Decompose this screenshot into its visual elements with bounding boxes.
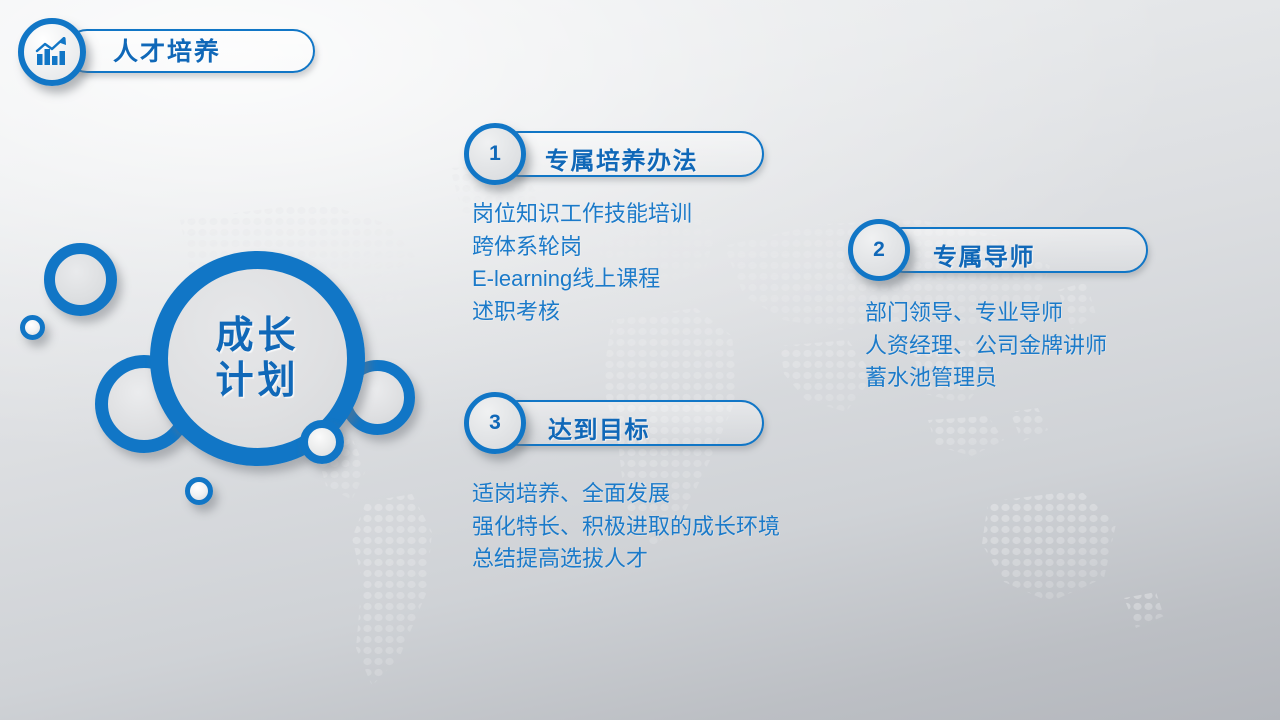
page-title: 人才培养 bbox=[113, 32, 221, 68]
section-1-line-4: 述职考核 bbox=[472, 296, 692, 329]
section-3-line-2: 强化特长、积极进取的成长环境 bbox=[472, 511, 780, 544]
section-1-line-3: E-learning线上课程 bbox=[472, 263, 692, 296]
section-1-heading: 专属培养办法 bbox=[545, 141, 698, 176]
section-1-line-2: 跨体系轮岗 bbox=[472, 231, 692, 264]
center-bubble-line-2: 计划 bbox=[215, 359, 299, 404]
section-2-body: 部门领导、专业导师 人资经理、公司金牌讲师 蓄水池管理员 bbox=[865, 297, 1107, 395]
section-2-line-3: 蓄水池管理员 bbox=[865, 362, 1107, 395]
decorative-bubble-bottom-right bbox=[300, 420, 344, 464]
section-1-line-1: 岗位知识工作技能培训 bbox=[472, 198, 692, 231]
section-3-line-1: 适岗培养、全面发展 bbox=[472, 478, 780, 511]
slide-canvas: 人才培养 1 专属培养办法 岗位知识工作技能培训 跨体系轮岗 E-learnin… bbox=[0, 0, 1280, 720]
bubble-cluster: 成长 计划 bbox=[0, 215, 440, 515]
section-3-line-3: 总结提高选拔人才 bbox=[472, 543, 780, 576]
section-3-body: 适岗培养、全面发展 强化特长、积极进取的成长环境 总结提高选拔人才 bbox=[472, 478, 780, 576]
section-3-heading: 达到目标 bbox=[548, 410, 650, 445]
decorative-bubble-tiny-bottom bbox=[185, 477, 213, 505]
section-2-line-1: 部门领导、专业导师 bbox=[865, 297, 1107, 330]
section-2-number: 2 bbox=[848, 219, 910, 281]
section-3-number: 3 bbox=[464, 392, 526, 454]
growth-bar-chart-icon bbox=[18, 18, 86, 86]
section-1-body: 岗位知识工作技能培训 跨体系轮岗 E-learning线上课程 述职考核 bbox=[472, 198, 692, 328]
center-bubble-line-1: 成长 bbox=[215, 314, 299, 359]
section-1-number: 1 bbox=[464, 123, 526, 185]
section-2-line-2: 人资经理、公司金牌讲师 bbox=[865, 330, 1107, 363]
section-2-heading: 专属导师 bbox=[933, 237, 1035, 272]
decorative-bubble-top-left bbox=[44, 243, 117, 316]
decorative-bubble-tiny-left bbox=[20, 315, 45, 340]
